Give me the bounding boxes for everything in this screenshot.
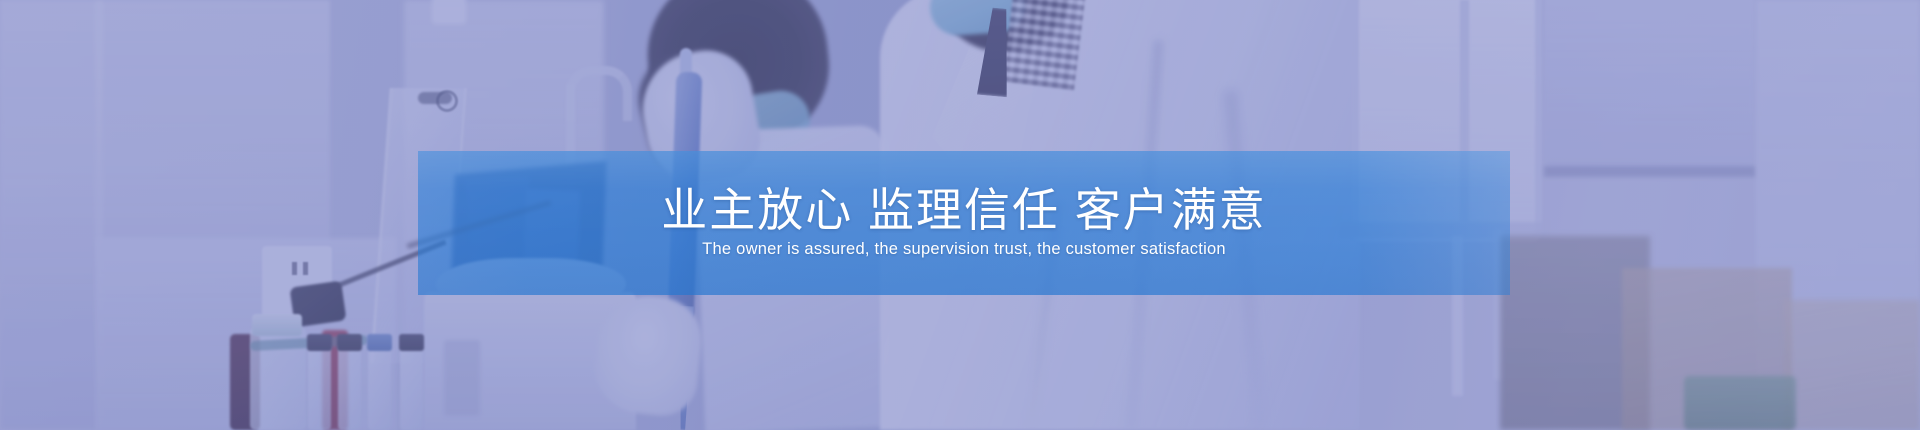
cardboard-box <box>1784 300 1920 430</box>
sample-vial <box>400 344 423 430</box>
banner-subline: The owner is assured, the supervision tr… <box>702 239 1226 260</box>
shield-clip-ring <box>436 90 458 112</box>
ceiling-light <box>432 0 466 24</box>
hero-banner: 业主放心 监理信任 客户满意 The owner is assured, the… <box>0 0 1920 430</box>
vial-cap <box>337 334 362 351</box>
sample-vial <box>308 344 331 430</box>
vial-cap <box>399 334 424 351</box>
cabinet-shadow-line <box>1544 166 1756 177</box>
lab-faucet-arc <box>566 66 632 121</box>
sample-vial <box>368 344 391 430</box>
centrifuge-vent <box>444 340 480 416</box>
vial-cap <box>367 334 392 351</box>
vial-cap <box>307 334 332 351</box>
banner-text-block: 业主放心 监理信任 客户满意 The owner is assured, the… <box>418 151 1510 295</box>
right-cabinet <box>1544 0 1754 170</box>
green-bin <box>1684 376 1796 430</box>
banner-headline: 业主放心 监理信任 客户满意 <box>661 186 1267 235</box>
bottle-cap <box>252 314 302 336</box>
outlet-slot <box>303 262 308 275</box>
sample-vial <box>338 344 361 430</box>
front-person-checked-collar <box>1002 0 1085 90</box>
outlet-slot <box>292 262 297 275</box>
